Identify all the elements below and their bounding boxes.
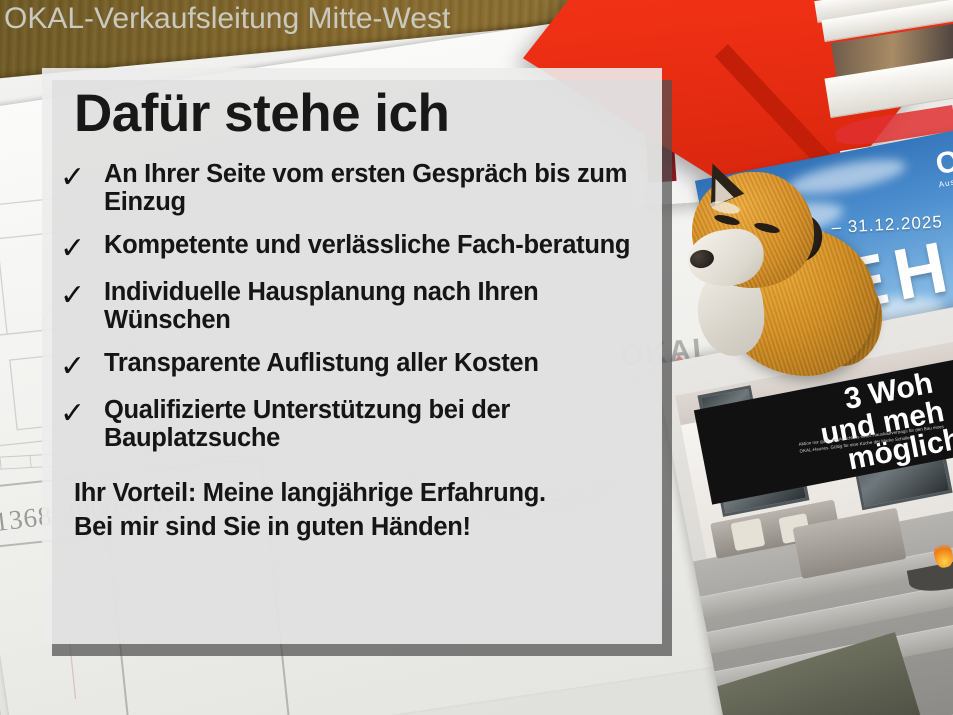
- list-item: ✓ Kompetente und verlässliche Fach-berat…: [60, 231, 638, 264]
- fox-head: [692, 172, 814, 288]
- blue-brochure-logo-name: OK: [932, 141, 953, 180]
- list-item-label: Kompetente und verlässliche Fach-beratun…: [104, 231, 630, 260]
- list-item-label: An Ihrer Seite vom ersten Gespräch bis z…: [104, 160, 638, 217]
- header-caption: OKAL-Verkaufsleitung Mitte-West: [4, 2, 450, 36]
- list-item: ✓ Individuelle Hausplanung nach Ihren Wü…: [60, 278, 638, 335]
- check-icon: ✓: [60, 396, 104, 429]
- list-item-label: Transparente Auflistung aller Kosten: [104, 349, 539, 378]
- list-item: ✓ Qualifizierte Unterstützung bei der Ba…: [60, 396, 638, 453]
- page-title: Dafür stehe ich: [74, 86, 638, 142]
- list-item: ✓ An Ihrer Seite vom ersten Gespräch bis…: [60, 160, 638, 217]
- check-icon: ✓: [60, 231, 104, 264]
- fox-eye-right: [753, 221, 780, 235]
- closing-statement: Ihr Vorteil: Meine langjährige Erfahrung…: [74, 477, 638, 544]
- blue-brochure-logo: OK Ausgezeich: [932, 141, 953, 189]
- list-item-label: Qualifizierte Unterstützung bei der Baup…: [104, 396, 638, 453]
- check-icon: ✓: [60, 349, 104, 382]
- closing-line-2: Bei mir sind Sie in guten Händen!: [74, 511, 638, 545]
- closing-line-1: Ihr Vorteil: Meine langjährige Erfahrung…: [74, 477, 638, 511]
- list-item-label: Individuelle Hausplanung nach Ihren Wüns…: [104, 278, 638, 335]
- fox-brow-left: [709, 199, 741, 216]
- slide-canvas: 1368-30009680 OKAL Ausgezeichnete Häuser…: [0, 0, 953, 715]
- fox-figurine: [686, 166, 876, 381]
- check-icon: ✓: [60, 278, 104, 311]
- list-item: ✓ Transparente Auflistung aller Kosten: [60, 349, 638, 382]
- fox-eye-left: [713, 213, 740, 227]
- benefit-list: ✓ An Ihrer Seite vom ersten Gespräch bis…: [60, 160, 638, 453]
- content-panel: Dafür stehe ich ✓ An Ihrer Seite vom ers…: [42, 68, 662, 644]
- check-icon: ✓: [60, 160, 104, 193]
